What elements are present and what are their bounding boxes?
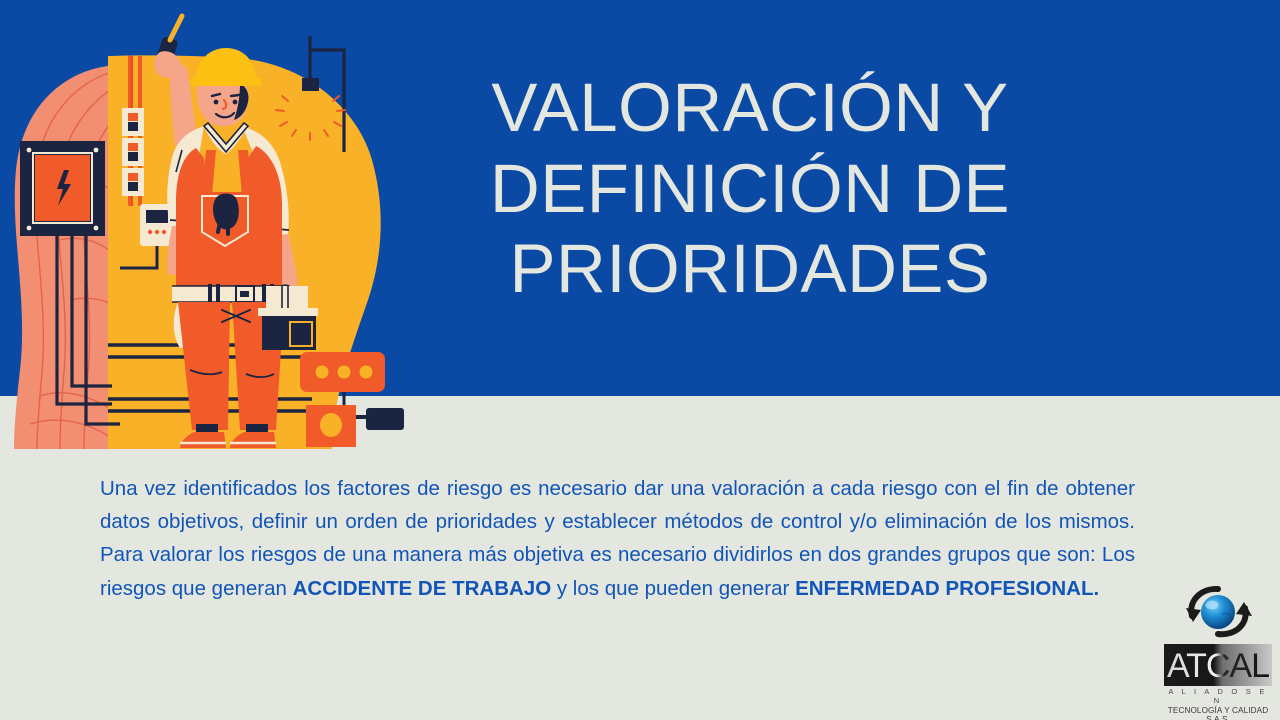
body-text-bold-enfermedad: ENFERMEDAD PROFESIONAL. xyxy=(795,577,1099,600)
atcal-logo: ATCAL A L I A D O S E N TECNOLOGÍA Y CAL… xyxy=(1162,582,1274,714)
logo-tagline-1: A L I A D O S E N xyxy=(1162,687,1274,705)
logo-tagline-2: TECNOLOGÍA Y CALIDAD S.A.S. xyxy=(1162,706,1274,720)
body-text-bold-accidente: ACCIDENTE DE TRABAJO xyxy=(293,577,552,600)
logo-wordmark: ATCAL xyxy=(1164,644,1272,686)
outlet-block xyxy=(306,405,404,447)
logo-globe-arrows-icon xyxy=(1162,582,1274,642)
electrical-panel xyxy=(20,141,105,236)
body-paragraph: Una vez identificados los factores de ri… xyxy=(100,472,1135,605)
electrician-illustration xyxy=(0,0,460,460)
switch-plates xyxy=(122,108,144,196)
slide-root: VALORACIÓN Y DEFINICIÓN DE PRIORIDADES U… xyxy=(0,0,1280,720)
svg-text:ATCAL: ATCAL xyxy=(1167,647,1269,685)
page-title: VALORACIÓN Y DEFINICIÓN DE PRIORIDADES xyxy=(400,68,1100,310)
body-text-part2: y los que pueden generar xyxy=(551,577,795,600)
